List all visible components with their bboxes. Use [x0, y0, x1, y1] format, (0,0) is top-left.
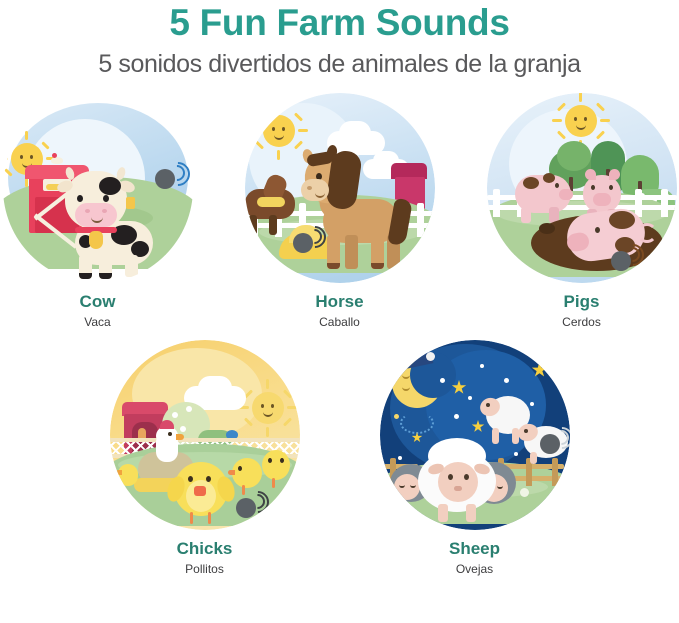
animal-card-cow[interactable]: Cow Vaca: [3, 93, 193, 328]
sheep-lamb-l-eye-r: [410, 483, 416, 488]
sheep-zzz: [400, 412, 434, 434]
pigs-pig1-spot1: [523, 177, 539, 189]
sheep-firefly: [394, 414, 399, 419]
sheep-lamb-r-eye-r: [497, 484, 503, 489]
poster-root: 5 Fun Farm Sounds 5 sonidos divertidos d…: [0, 0, 679, 623]
cow-bird-head: [52, 153, 57, 158]
cow-eye-right: [103, 195, 109, 202]
chicks-hen-comb: [160, 420, 174, 429]
pigs-fence-post-5: [661, 189, 668, 217]
pigs-pig3-tail: [637, 223, 657, 243]
animal-label-en-sheep: Sheep: [449, 540, 500, 557]
horse-hoof-1: [327, 263, 340, 269]
sheep-star-dot-5: [530, 402, 534, 406]
cow-leg-3: [125, 255, 138, 277]
pigs-pig2-snout: [593, 193, 611, 206]
chicks-bush-flower-3: [180, 426, 186, 432]
sheep-lamb-l-head: [394, 474, 420, 500]
pigs-pig3-spot1: [609, 211, 635, 229]
pigs-pig2-ear-l: [585, 169, 596, 180]
chicks-cloud-b: [198, 376, 232, 400]
sheep-big-leg-2: [466, 504, 476, 522]
chicks-main-eye-r: [206, 476, 211, 482]
cow-bell: [89, 231, 103, 249]
sheep-big-leg-1: [438, 504, 448, 522]
animal-label-es-pigs: Cerdos: [562, 316, 601, 328]
pigs-illustration: [487, 93, 677, 283]
chicks-hen-beak: [176, 434, 184, 440]
animal-label-en-pigs: Pigs: [564, 293, 600, 310]
chicks-small-chick: [118, 464, 138, 486]
pigs-fence-post-1: [493, 189, 500, 217]
chicks-illustration: [110, 340, 300, 530]
cow-eye-left: [77, 195, 83, 202]
pigs-pig1-eye: [555, 183, 559, 188]
chicks-chick2-body: [232, 458, 262, 488]
pigs-sun-icon: [565, 105, 597, 137]
chicks-main-leg-1: [190, 512, 193, 524]
chicks-main-eye-l: [188, 476, 193, 482]
horse-mouth: [315, 191, 325, 198]
chicks-sun-icon: [252, 392, 284, 424]
pigs-pig1-spot2: [543, 173, 555, 183]
chicks-chick2-eye: [238, 466, 242, 471]
animal-label-es-sheep: Ovejas: [456, 563, 493, 575]
horse-fence-post-5: [417, 203, 424, 237]
sheep-sound-sheep-eye: [524, 429, 528, 433]
sheep-sound-sheep-leg: [530, 452, 537, 464]
chicks-chick3-body: [262, 450, 290, 480]
chicks-small-chick-beak: [116, 470, 122, 475]
pigs-mud-splash: [539, 223, 555, 234]
pigs-pig2-ear-r: [609, 169, 620, 180]
chicks-chick3-leg: [272, 478, 275, 488]
horse-sun-smile: [274, 133, 284, 140]
animal-row-top: Cow Vaca: [0, 93, 679, 328]
animal-card-sheep[interactable]: Sheep Ovejas: [380, 340, 570, 575]
sheep-star-dot-2: [480, 364, 484, 368]
animal-label-en-chicks: Chicks: [177, 540, 233, 557]
animal-card-chicks[interactable]: Chicks Pollitos: [110, 340, 300, 575]
chicks-hen-head: [156, 426, 178, 446]
chicks-chick3-eye-r: [280, 458, 284, 463]
sheep-moon-cap-tip: [426, 352, 435, 361]
animal-label-es-chicks: Pollitos: [185, 563, 224, 575]
pigs-pig1-leg1: [521, 207, 531, 223]
sheep-big-eye-r: [464, 474, 469, 480]
chicks-chick2-leg: [242, 485, 245, 495]
animal-label-en-cow: Cow: [80, 293, 116, 310]
animal-row-bottom: Chicks Pollitos: [0, 340, 679, 575]
sheep-jump-leg-1: [492, 428, 499, 444]
animal-card-horse[interactable]: Horse Caballo: [245, 93, 435, 328]
animal-label-es-cow: Vaca: [84, 316, 110, 328]
page-title: 5 Fun Farm Sounds: [0, 0, 679, 41]
horse-sun-icon: [263, 115, 295, 147]
pigs-tree-1b: [557, 141, 591, 171]
pigs-pig3-eye: [595, 227, 600, 233]
sheep-star-dot-8: [468, 396, 472, 400]
chicks-sun-smile: [263, 410, 273, 417]
cow-hoof-1: [79, 273, 92, 279]
cow-tag: [126, 197, 135, 209]
chicks-chick3-eye-l: [268, 458, 272, 463]
sheep-flower: [520, 488, 529, 497]
sheep-star-dot-4: [454, 414, 459, 419]
sheep-star-dot-6: [398, 456, 402, 460]
cow-nostril-right: [102, 209, 107, 213]
animal-label-es-horse: Caballo: [319, 316, 360, 328]
pigs-pig2-eye-l: [591, 185, 595, 190]
cow-illustration: [3, 93, 193, 283]
horse-nostril: [307, 186, 312, 190]
animal-label-en-horse: Horse: [315, 293, 363, 310]
pigs-pig1-snout: [559, 189, 573, 200]
sheep-moon-eye: [402, 374, 410, 379]
chicks-main-leg-2: [208, 512, 211, 524]
chicks-bush-flower-1: [172, 412, 178, 418]
chicks-bush-flower-2: [186, 406, 192, 412]
cow-head-spot: [99, 177, 121, 195]
sheep-big-nose: [454, 486, 462, 491]
sheep-star-dot-1: [440, 378, 445, 383]
pigs-pig2-eye-r: [609, 185, 613, 190]
horse-bg-hay: [257, 197, 285, 207]
chicks-chick2-beak: [228, 470, 235, 475]
sheep-illustration: [380, 340, 570, 530]
horse-bg-leg-1: [249, 215, 257, 235]
chicks-hen-eye: [168, 432, 172, 436]
horse-illustration: [245, 93, 435, 283]
sheep-star-dot-7: [514, 452, 518, 456]
horse-hoof-2: [371, 263, 384, 269]
pigs-fence-rail-2: [487, 205, 677, 210]
cow-bird: [51, 157, 63, 164]
animal-card-pigs[interactable]: Pigs Cerdos: [487, 93, 677, 328]
horse-muzzle: [301, 179, 329, 201]
horse-leg-2: [345, 235, 358, 269]
chicks-main-belly: [186, 480, 216, 512]
sheep-fence-post-3: [552, 458, 558, 486]
cow-nostril-left: [85, 209, 90, 213]
horse-cloud-1b: [339, 121, 371, 145]
page-subtitle: 5 sonidos divertidos de animales de la g…: [0, 41, 679, 77]
sheep-star-dot-3: [504, 378, 509, 383]
chicks-fence-rail: [110, 438, 300, 442]
sheep-big-eye-l: [448, 474, 453, 480]
pigs-sun-smile: [576, 123, 586, 130]
sheep-jump-eye: [486, 403, 490, 407]
cow-hoof-2: [99, 273, 112, 279]
chicks-main-beak: [194, 486, 206, 496]
sheep-moon-mouth: [402, 384, 410, 391]
horse-bg-leg-2: [269, 215, 277, 235]
sheep-lamb-l-eye-l: [399, 483, 405, 488]
